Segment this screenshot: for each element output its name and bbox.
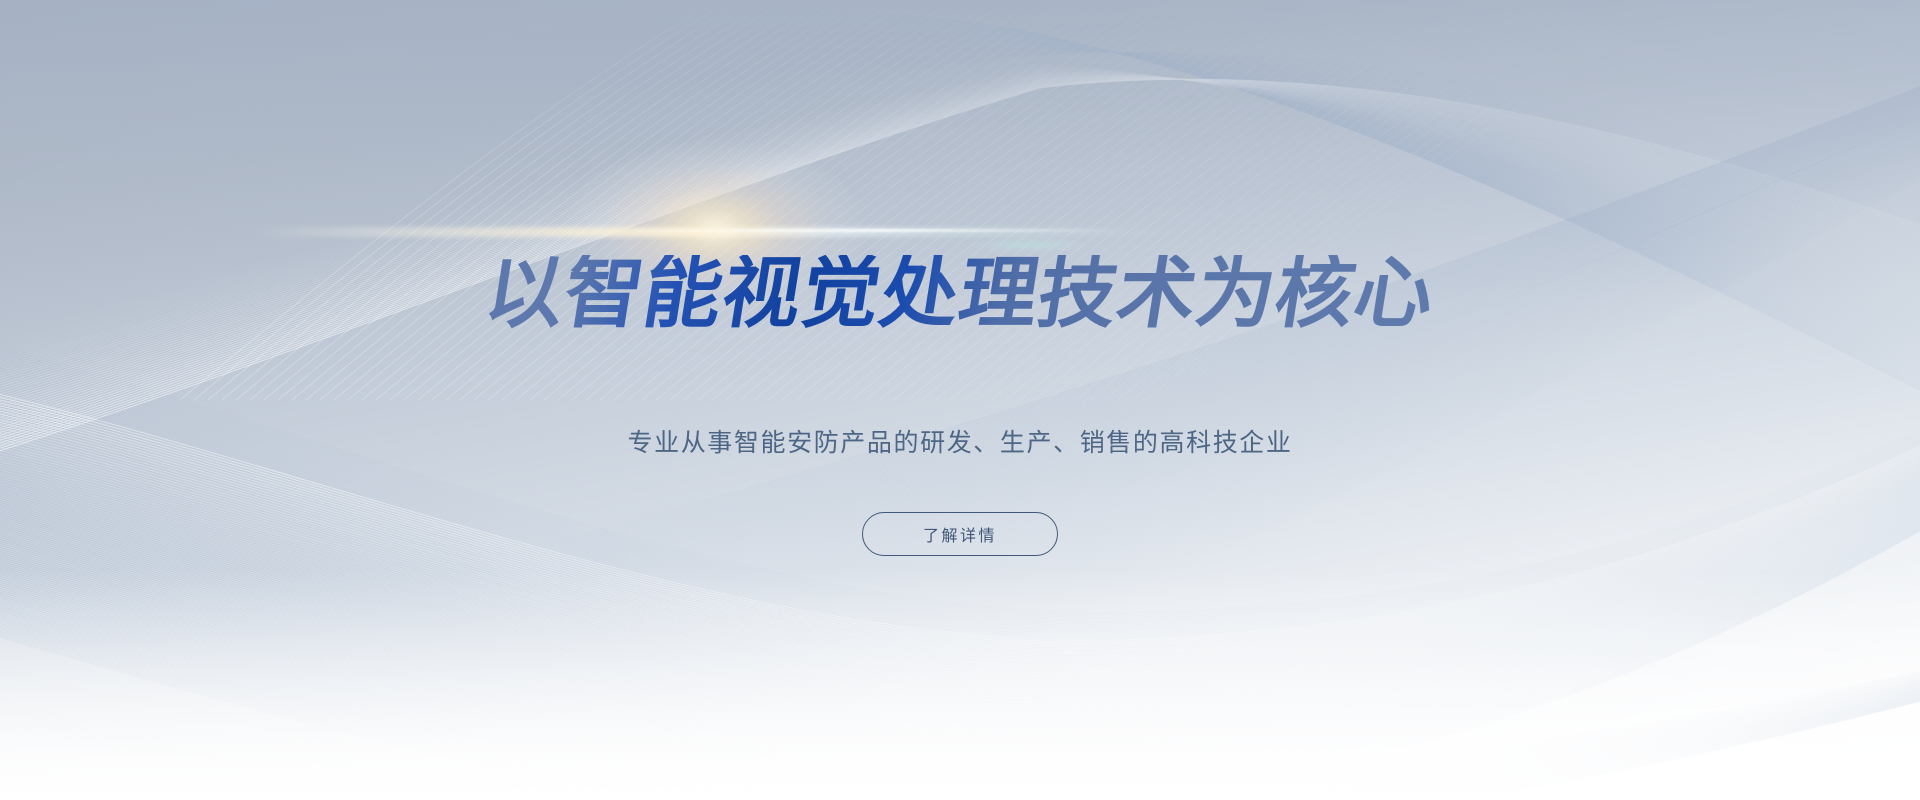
hero-banner: 以智能视觉处理技术为核心 专业从事智能安防产品的研发、生产、销售的高科技企业 了… xyxy=(0,0,1920,800)
hero-subtitle: 专业从事智能安防产品的研发、生产、销售的高科技企业 xyxy=(627,423,1292,459)
hero-headline: 以智能视觉处理技术为核心 xyxy=(480,255,1440,333)
hero-content: 以智能视觉处理技术为核心 专业从事智能安防产品的研发、生产、销售的高科技企业 了… xyxy=(0,0,1920,800)
learn-more-button[interactable]: 了解详情 xyxy=(862,512,1058,556)
